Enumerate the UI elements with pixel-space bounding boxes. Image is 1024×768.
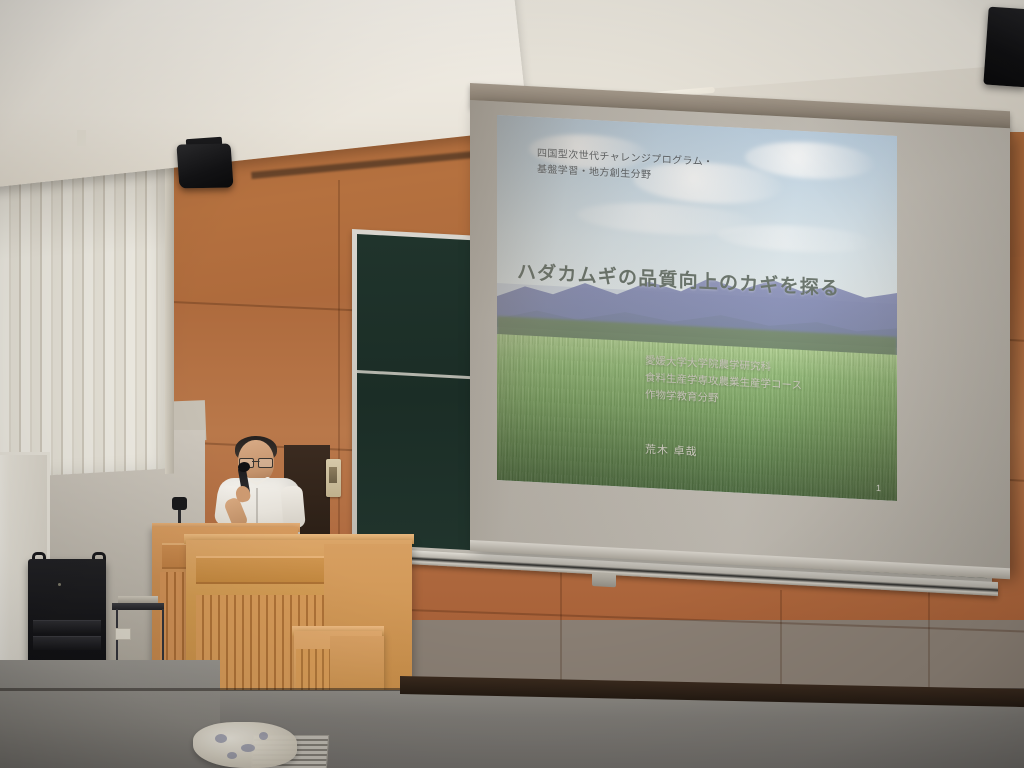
gooseneck-mic-icon bbox=[172, 497, 187, 510]
wall-seam bbox=[560, 560, 562, 690]
rack-unit[interactable] bbox=[33, 620, 101, 634]
projected-slide: 四国型次世代チャレンジプログラム・ 基盤学習・地方創生分野 ハダカムギの品質向上… bbox=[497, 115, 897, 501]
lecture-hall-photo: 四国型次世代チャレンジプログラム・ 基盤学習・地方創生分野 ハダカムギの品質向上… bbox=[0, 0, 1024, 768]
slide-author: 荒木 卓哉 bbox=[645, 440, 698, 459]
slide-page-number: 1 bbox=[876, 483, 881, 493]
rack-unit[interactable] bbox=[33, 636, 101, 650]
podium-front-panel bbox=[196, 556, 324, 584]
ceiling-mount bbox=[77, 130, 86, 146]
ceiling-speaker-right-icon bbox=[983, 7, 1024, 88]
plastic-bag bbox=[193, 722, 297, 768]
ceiling-speaker-left-icon bbox=[176, 144, 233, 189]
wall-control-panel[interactable] bbox=[326, 459, 341, 497]
chalk-tray-clip bbox=[592, 572, 616, 587]
wall-outlet[interactable] bbox=[115, 628, 131, 640]
floor-left bbox=[0, 660, 220, 768]
blinds-edge bbox=[165, 138, 174, 474]
